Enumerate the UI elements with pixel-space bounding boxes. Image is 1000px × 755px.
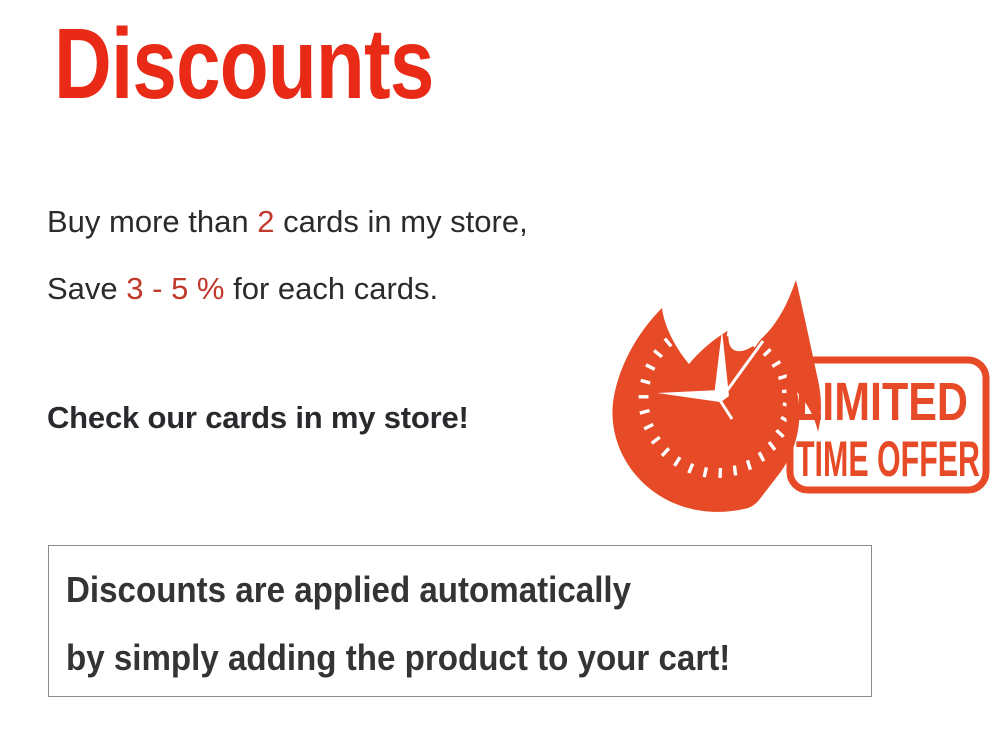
limited-time-offer-badge: LIMITED TIME OFFER <box>600 268 992 518</box>
threshold-text-before: Buy more than <box>47 204 257 239</box>
auto-discount-callout: Discounts are applied automatically by s… <box>48 545 872 697</box>
promo-banner: Discounts Buy more than 2 cards in my st… <box>0 0 1000 755</box>
savings-percent: 3 - 5 % <box>126 271 224 306</box>
offer-line-2: TIME OFFER <box>796 431 980 487</box>
discount-threshold-line: Buy more than 2 cards in my store, <box>47 204 528 240</box>
store-call-to-action: Check our cards in my store! <box>47 400 469 436</box>
savings-text-after: for each cards. <box>225 271 439 306</box>
threshold-quantity: 2 <box>257 204 274 239</box>
callout-line-2: by simply adding the product to your car… <box>66 638 730 678</box>
page-title: Discounts <box>54 14 434 114</box>
discount-savings-line: Save 3 - 5 % for each cards. <box>47 271 438 307</box>
callout-line-1: Discounts are applied automatically <box>66 570 631 610</box>
savings-text-before: Save <box>47 271 126 306</box>
threshold-text-after: cards in my store, <box>274 204 527 239</box>
offer-line-1: LIMITED <box>796 372 968 432</box>
